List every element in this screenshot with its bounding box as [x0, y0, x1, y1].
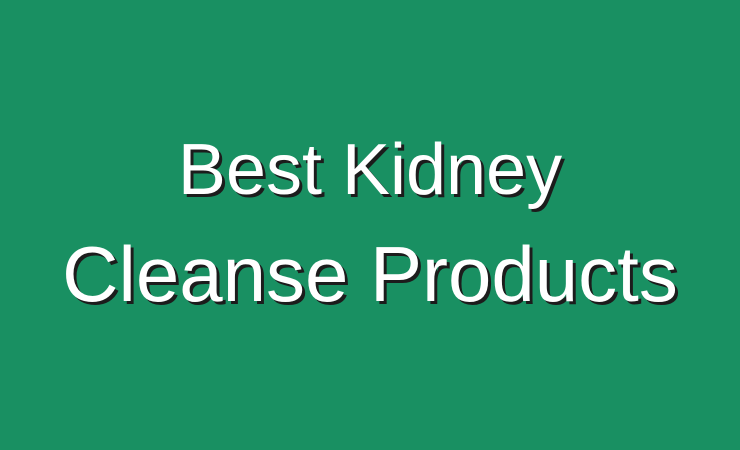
title-block: Best Kidney Cleanse Products [0, 118, 740, 326]
title-line-2: Cleanse Products [0, 222, 740, 326]
title-banner: Best Kidney Cleanse Products [0, 0, 740, 450]
title-line-1: Best Kidney [0, 118, 740, 222]
